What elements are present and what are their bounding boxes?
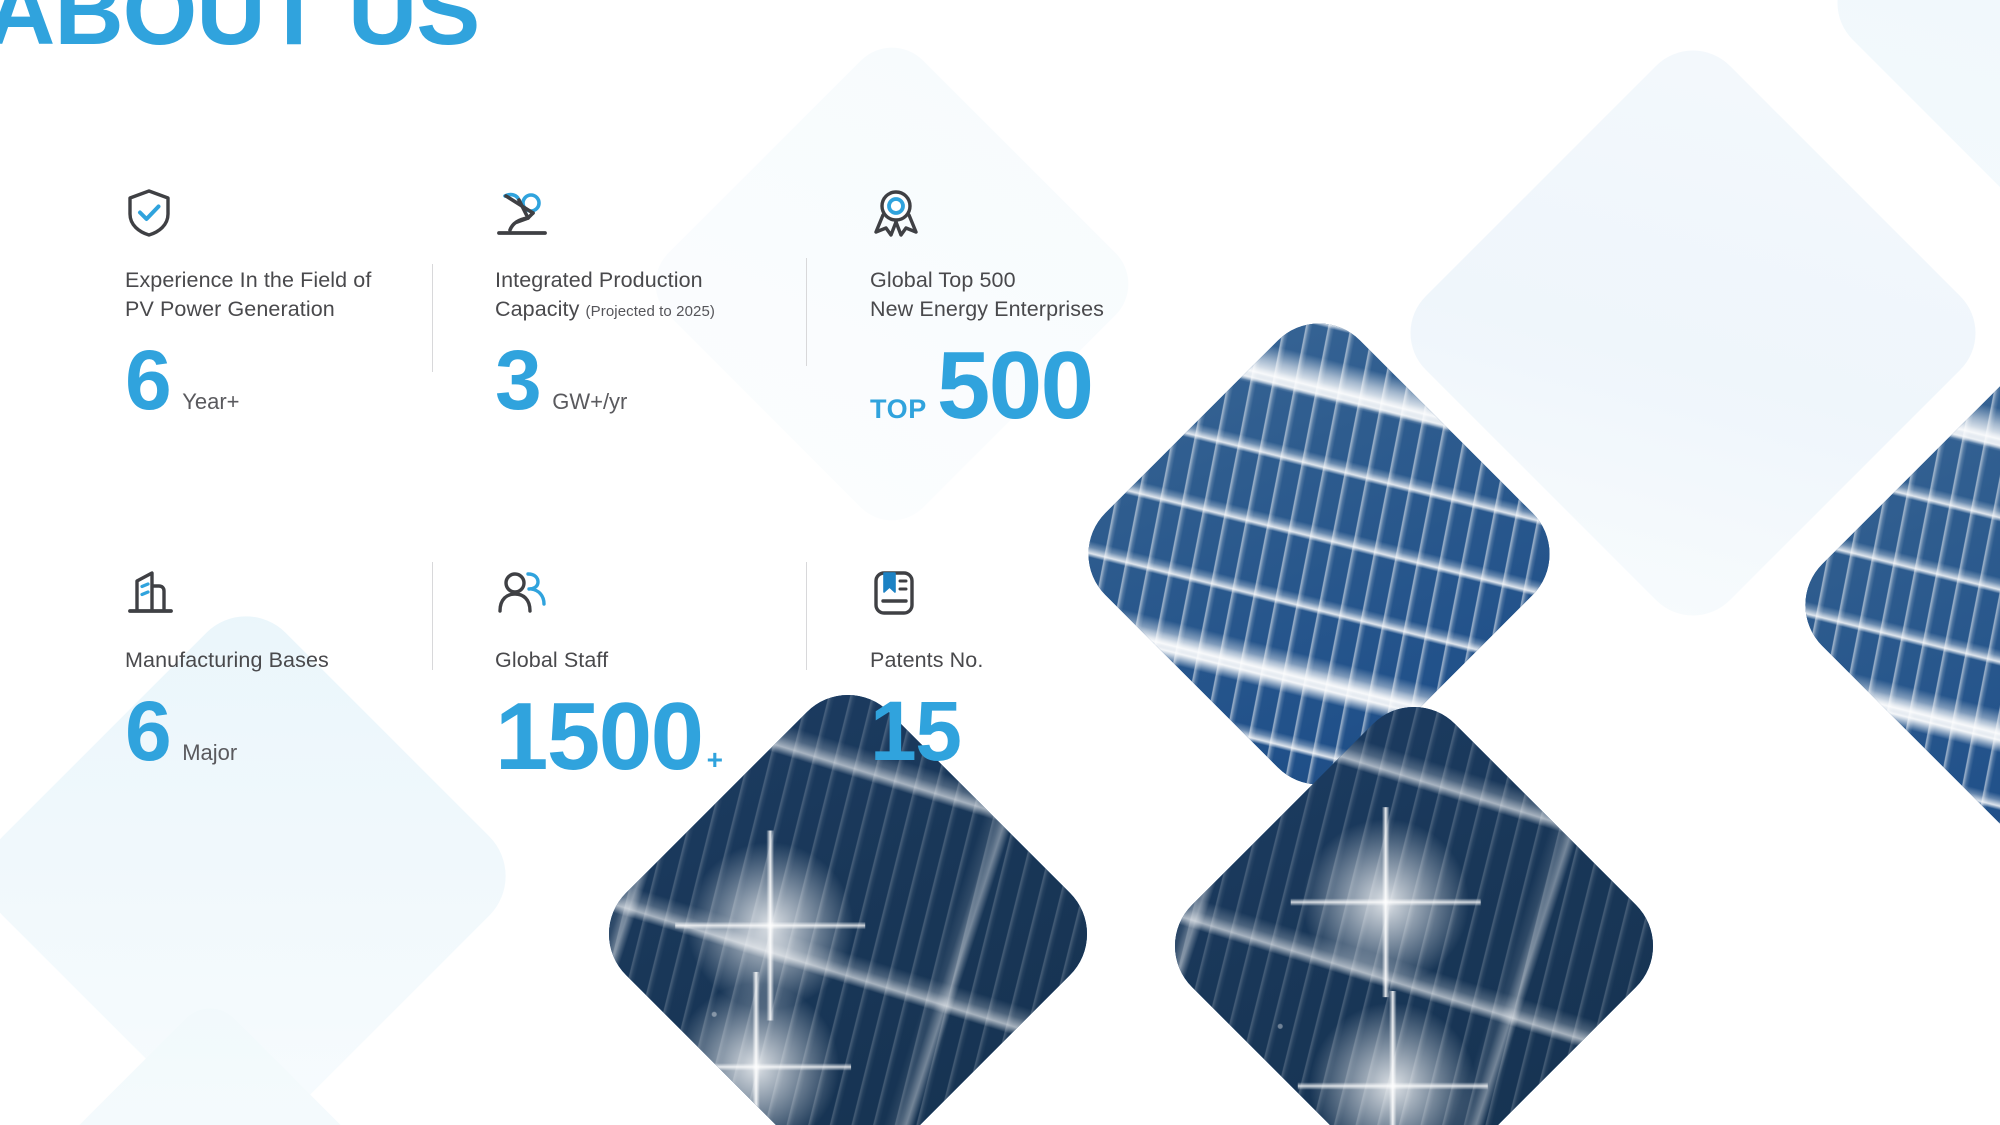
- solar-panel-texture: [1151, 683, 1677, 1125]
- stats-row: Experience In the Field of PV Power Gene…: [125, 186, 1125, 566]
- stat-unit: GW+/yr: [552, 389, 627, 415]
- stat-card-patents: Patents No. 15: [870, 566, 1170, 771]
- stat-value: 6 Major: [125, 693, 425, 770]
- stat-unit: Major: [182, 740, 237, 766]
- stat-value: TOP 500: [870, 342, 1170, 430]
- stat-label-line1: Experience In the Field of: [125, 268, 371, 292]
- stat-label-line2: PV Power Generation: [125, 297, 335, 321]
- stat-value: 1500 +: [495, 693, 795, 781]
- stat-suffix: +: [707, 744, 723, 776]
- stat-card-production-capacity: Integrated Production Capacity (Projecte…: [495, 186, 795, 420]
- stat-label: Global Staff: [495, 646, 795, 675]
- stat-label-line1: Integrated Production: [495, 268, 703, 292]
- patent-certificate-icon: [870, 566, 1170, 618]
- stat-label: Experience In the Field of PV Power Gene…: [125, 266, 425, 324]
- stat-label-line2: New Energy Enterprises: [870, 297, 1104, 321]
- about-us-slide: ABOUT US Experience In the Field of PV P…: [0, 0, 2000, 1125]
- award-medal-icon: [870, 186, 1170, 238]
- stat-label-line1: Global Top 500: [870, 268, 1016, 292]
- background-diamond-corner: [1816, 0, 2000, 307]
- stat-label-line1: Patents No.: [870, 648, 983, 672]
- people-group-icon: [495, 566, 795, 618]
- stat-number: 500: [937, 342, 1093, 430]
- stat-label-line1: Global Staff: [495, 648, 608, 672]
- stat-number: 1500: [495, 693, 703, 781]
- stat-value: 15: [870, 693, 1170, 770]
- stat-label-note: (Projected to 2025): [586, 303, 715, 320]
- stat-number: 6: [125, 342, 170, 419]
- stat-card-experience: Experience In the Field of PV Power Gene…: [125, 186, 425, 420]
- stats-grid: Experience In the Field of PV Power Gene…: [125, 186, 1125, 946]
- stat-value: 3 GW+/yr: [495, 342, 795, 419]
- solar-panel-texture: [1781, 343, 2000, 866]
- stat-prefix: TOP: [870, 394, 927, 425]
- stat-card-global-top-500: Global Top 500 New Energy Enterprises TO…: [870, 186, 1170, 431]
- stat-number: 15: [870, 693, 960, 770]
- robot-arm-icon: [495, 186, 795, 238]
- solar-panel-right-edge: [1781, 343, 2000, 866]
- stat-label: Global Top 500 New Energy Enterprises: [870, 266, 1170, 324]
- stat-unit: Year+: [182, 389, 239, 415]
- stat-card-global-staff: Global Staff 1500 +: [495, 566, 795, 782]
- page-title: ABOUT US: [0, 0, 479, 60]
- solar-panel-bottom-right: [1151, 683, 1677, 1125]
- stat-label: Patents No.: [870, 646, 1170, 675]
- stat-label-line1: Manufacturing Bases: [125, 648, 329, 672]
- stat-label-line2: Capacity: [495, 297, 579, 321]
- stat-number: 6: [125, 693, 170, 770]
- background-diamond-bottom-small: [54, 994, 365, 1125]
- stat-value: 6 Year+: [125, 342, 425, 419]
- stats-row: Manufacturing Bases 6 Major: [125, 566, 1125, 946]
- stat-label: Integrated Production Capacity (Projecte…: [495, 266, 795, 324]
- shield-check-icon: [125, 186, 425, 238]
- stat-number: 3: [495, 342, 540, 419]
- stat-label: Manufacturing Bases: [125, 646, 425, 675]
- factory-building-icon: [125, 566, 425, 618]
- stat-card-manufacturing-bases: Manufacturing Bases 6 Major: [125, 566, 425, 771]
